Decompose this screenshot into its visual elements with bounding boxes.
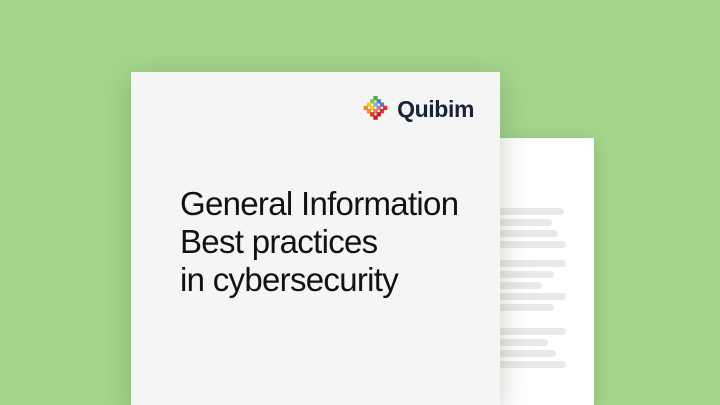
placeholder-line [498,282,542,289]
placeholder-line [498,271,554,278]
cover-title: General Information Best practices in cy… [180,185,458,299]
cover-title-line-3: in cybersecurity [180,261,458,299]
placeholder-text-lines [500,138,594,405]
quibim-diamond-logo-icon [362,96,389,123]
placeholder-line [498,241,566,248]
quibim-wordmark: Quibim [397,98,474,121]
placeholder-line [498,339,548,346]
placeholder-line [498,260,566,267]
placeholder-line [498,208,564,215]
cover-card: Quibim General Information Best practice… [131,72,500,405]
quibim-logo-lockup: Quibim [362,96,474,123]
cover-title-line-2: Best practices [180,223,458,261]
placeholder-line [498,304,554,311]
cover-title-line-1: General Information [180,185,458,223]
placeholder-line [498,361,566,368]
placeholder-line [498,230,558,237]
placeholder-line [498,219,552,226]
placeholder-line [498,293,566,300]
slide-canvas: Quibim General Information Best practice… [0,0,720,405]
background-document [500,138,594,405]
placeholder-line [498,328,566,335]
placeholder-line [498,350,556,357]
